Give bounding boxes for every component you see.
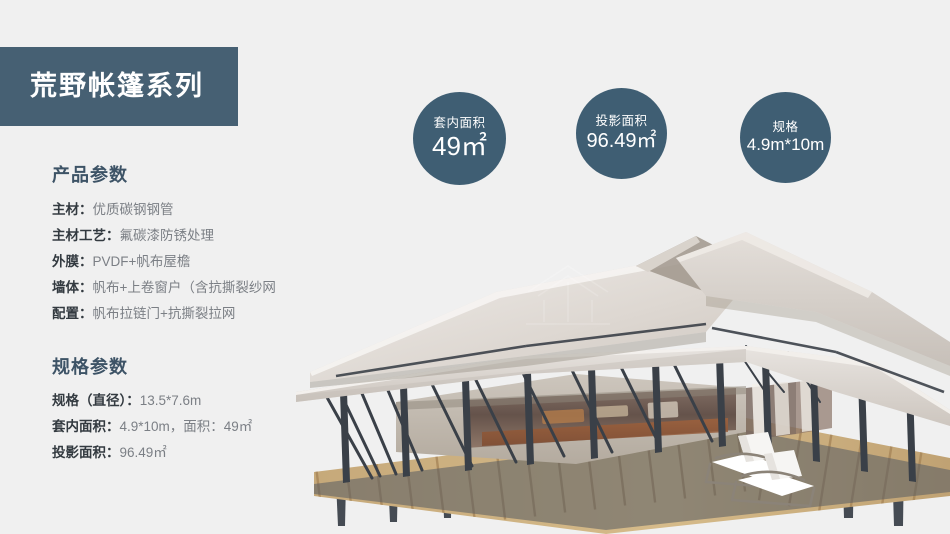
spec-value: 优质碳钢钢管 — [93, 202, 174, 217]
spec-value: 帆布拉链门+抗撕裂拉网 — [93, 306, 236, 321]
stat-badge-value: 49㎡ — [432, 133, 487, 160]
spec-value: 氟碳漆防锈处理 — [120, 228, 215, 243]
page-title: 荒野帐篷系列 — [30, 73, 204, 100]
spec-label: 主材： — [52, 202, 93, 217]
stat-badge-label: 规格 — [772, 121, 798, 135]
stat-badge-value: 96.49㎡ — [586, 131, 656, 152]
spec-label: 配置： — [52, 306, 93, 321]
product-params-heading: 产品参数 — [52, 165, 352, 187]
title-banner: 荒野帐篷系列 — [0, 47, 238, 126]
spec-value: 96.49㎡ — [120, 445, 167, 460]
spec-value: 4.9*10m，面积：49㎡ — [120, 419, 253, 434]
spec-label: 规格（直径）： — [52, 393, 140, 408]
spec-label: 墙体： — [52, 280, 93, 295]
stat-badge-label: 套内面积 — [433, 117, 485, 131]
spec-label: 主材工艺： — [52, 228, 120, 243]
stat-badge-value: 4.9m*10m — [747, 136, 824, 154]
spec-value: PVDF+帆布屋檐 — [93, 254, 191, 269]
spec-label: 套内面积： — [52, 419, 120, 434]
slide-canvas: 荒野帐篷系列 产品参数 主材：优质碳钢钢管 主材工艺：氟碳漆防锈处理 外膜：PV… — [0, 0, 950, 534]
spec-value: 13.5*7.6m — [140, 393, 202, 408]
spec-value: 帆布+上卷窗户（含抗撕裂纱网） — [93, 280, 290, 295]
tent-render-image — [276, 196, 950, 534]
stat-badge-label: 投影面积 — [595, 115, 647, 129]
stat-badge-dimensions: 规格 4.9m*10m — [740, 92, 831, 183]
stat-badge-projected-area: 投影面积 96.49㎡ — [576, 88, 667, 179]
spec-label: 投影面积： — [52, 445, 120, 460]
stat-badge-interior-area: 套内面积 49㎡ — [413, 92, 506, 185]
spec-label: 外膜： — [52, 254, 93, 269]
